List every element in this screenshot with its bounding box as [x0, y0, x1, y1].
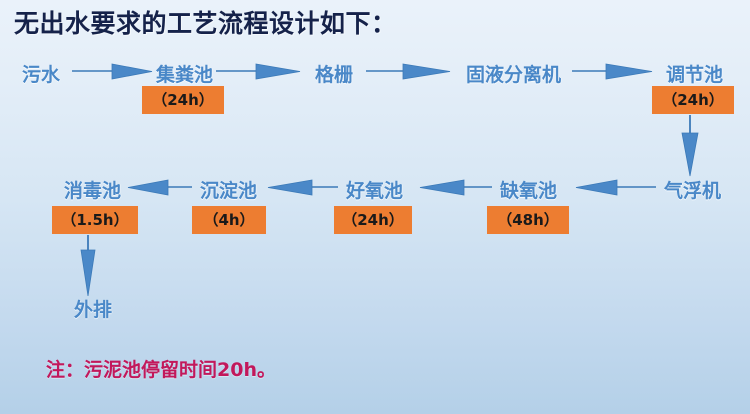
page-title: 无出水要求的工艺流程设计如下：: [14, 4, 397, 40]
flow-node-solid-liquid-separator: 固液分离机: [466, 60, 561, 87]
slide-canvas: 无出水要求的工艺流程设计如下： 污水 集粪池 格栅 固液分离机 调节池 （24h…: [0, 0, 750, 414]
flow-node-air-flotation: 气浮机: [664, 176, 721, 203]
flow-node-anoxic-tank: 缺氧池: [500, 176, 557, 203]
flow-node-discharge: 外排: [74, 295, 112, 322]
arrow-disinfection-tank-to-discharge: [81, 235, 95, 296]
flow-node-manure-tank: 集粪池: [156, 60, 213, 87]
arrow-air-flotation-to-anoxic-tank: [576, 180, 656, 195]
arrow-anoxic-tank-to-aerobic-tank: [420, 180, 492, 195]
duration-box-regulating-tank: （24h）: [652, 86, 734, 114]
flow-node-wastewater: 污水: [22, 60, 60, 87]
duration-box-disinfection-tank: （1.5h）: [52, 206, 138, 234]
arrow-manure-tank-to-grille: [216, 64, 300, 79]
duration-box-aerobic-tank: （24h）: [334, 206, 412, 234]
flow-node-regulating-tank: 调节池: [666, 60, 723, 87]
flow-node-aerobic-tank: 好氧池: [346, 176, 403, 203]
duration-box-anoxic-tank: （48h）: [487, 206, 569, 234]
arrow-regulating-tank-to-air-flotation: [682, 115, 698, 176]
duration-box-sedimentation-tank: （4h）: [192, 206, 266, 234]
arrow-separator-to-regulating-tank: [572, 64, 652, 79]
arrow-aerobic-tank-to-sedimentation-tank: [268, 180, 338, 195]
arrow-sedimentation-tank-to-disinfection-tank: [128, 180, 192, 195]
flow-node-grille: 格栅: [315, 60, 353, 87]
footnote-text: 注：污泥池停留时间20h。: [46, 355, 276, 382]
duration-box-manure-tank: （24h）: [142, 86, 224, 114]
flow-node-disinfection-tank: 消毒池: [64, 176, 121, 203]
arrow-grille-to-separator: [366, 64, 450, 79]
arrow-wastewater-to-manure-tank: [72, 64, 152, 79]
flow-node-sedimentation-tank: 沉淀池: [200, 176, 257, 203]
